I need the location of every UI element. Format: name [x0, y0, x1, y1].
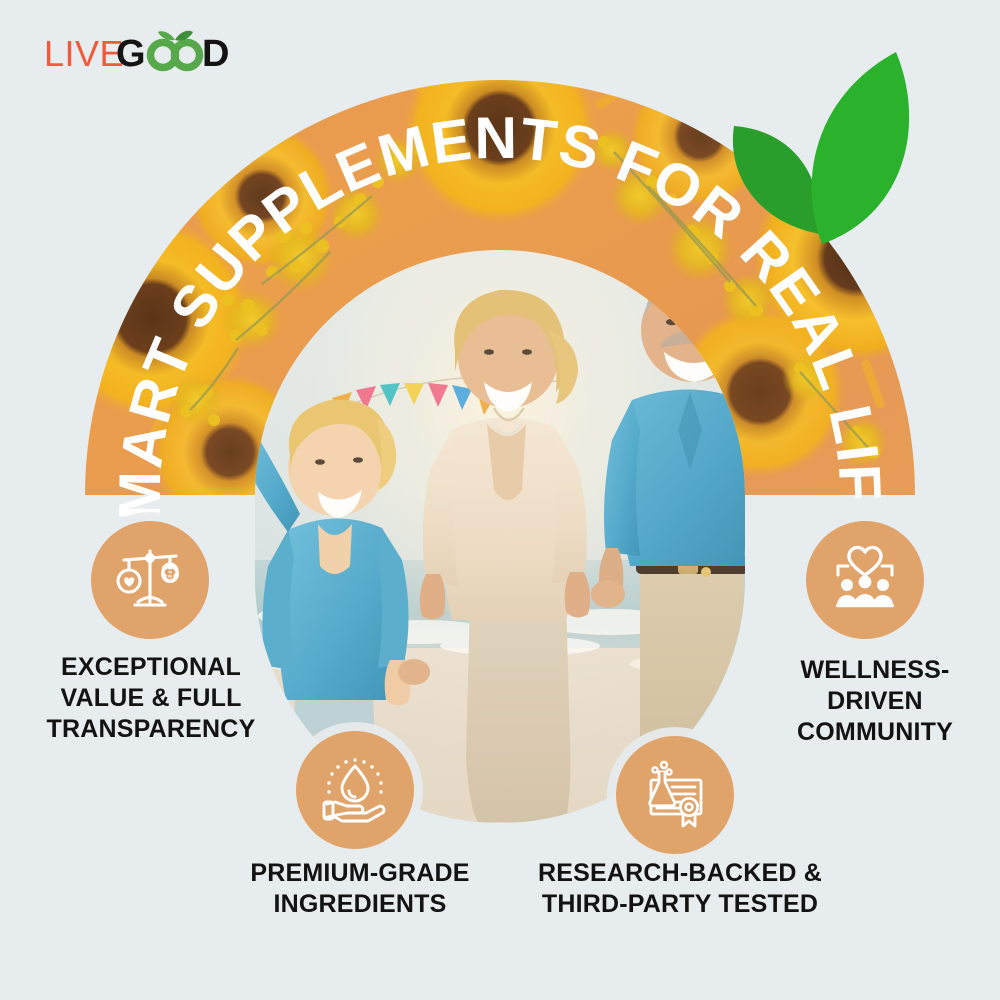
feature-label-research-backed: RESEARCH-BACKED & THIRD-PARTY TESTED — [520, 858, 840, 920]
logo-text-d: D — [202, 33, 229, 75]
livegood-logo[interactable]: LIVE G D — [44, 28, 244, 78]
feature-badge-research-backed[interactable] — [616, 736, 734, 854]
logo-text-live: LIVE — [44, 33, 124, 74]
feature-label-exceptional-value: EXCEPTIONAL VALUE & FULL TRANSPARENCY — [20, 652, 282, 745]
heart-over-people-icon — [828, 543, 902, 617]
feature-badge-premium-ingredients[interactable] — [296, 731, 414, 849]
logo-apple-oo-icon — [151, 31, 200, 68]
hero-arch-graphic: SMART SUPPLEMENTS FOR REAL LIFE. — [0, 0, 1000, 1000]
feature-badge-exceptional-value[interactable]: $ — [91, 521, 209, 639]
svg-text:$: $ — [166, 566, 174, 582]
balance-scale-heart-dollar-icon: $ — [113, 543, 187, 617]
logo-text-g: G — [116, 33, 146, 75]
feature-badge-wellness-community[interactable] — [806, 521, 924, 639]
certificate-flask-award-icon — [638, 758, 712, 832]
feature-label-premium-ingredients: PREMIUM-GRADE INGREDIENTS — [215, 858, 505, 920]
feature-label-wellness-community: WELLNESS- DRIVEN COMMUNITY — [760, 655, 990, 748]
poster-canvas: SMART SUPPLEMENTS FOR REAL LIFE. LIVE G … — [0, 0, 1000, 1000]
hand-holding-droplet-icon — [318, 753, 392, 827]
